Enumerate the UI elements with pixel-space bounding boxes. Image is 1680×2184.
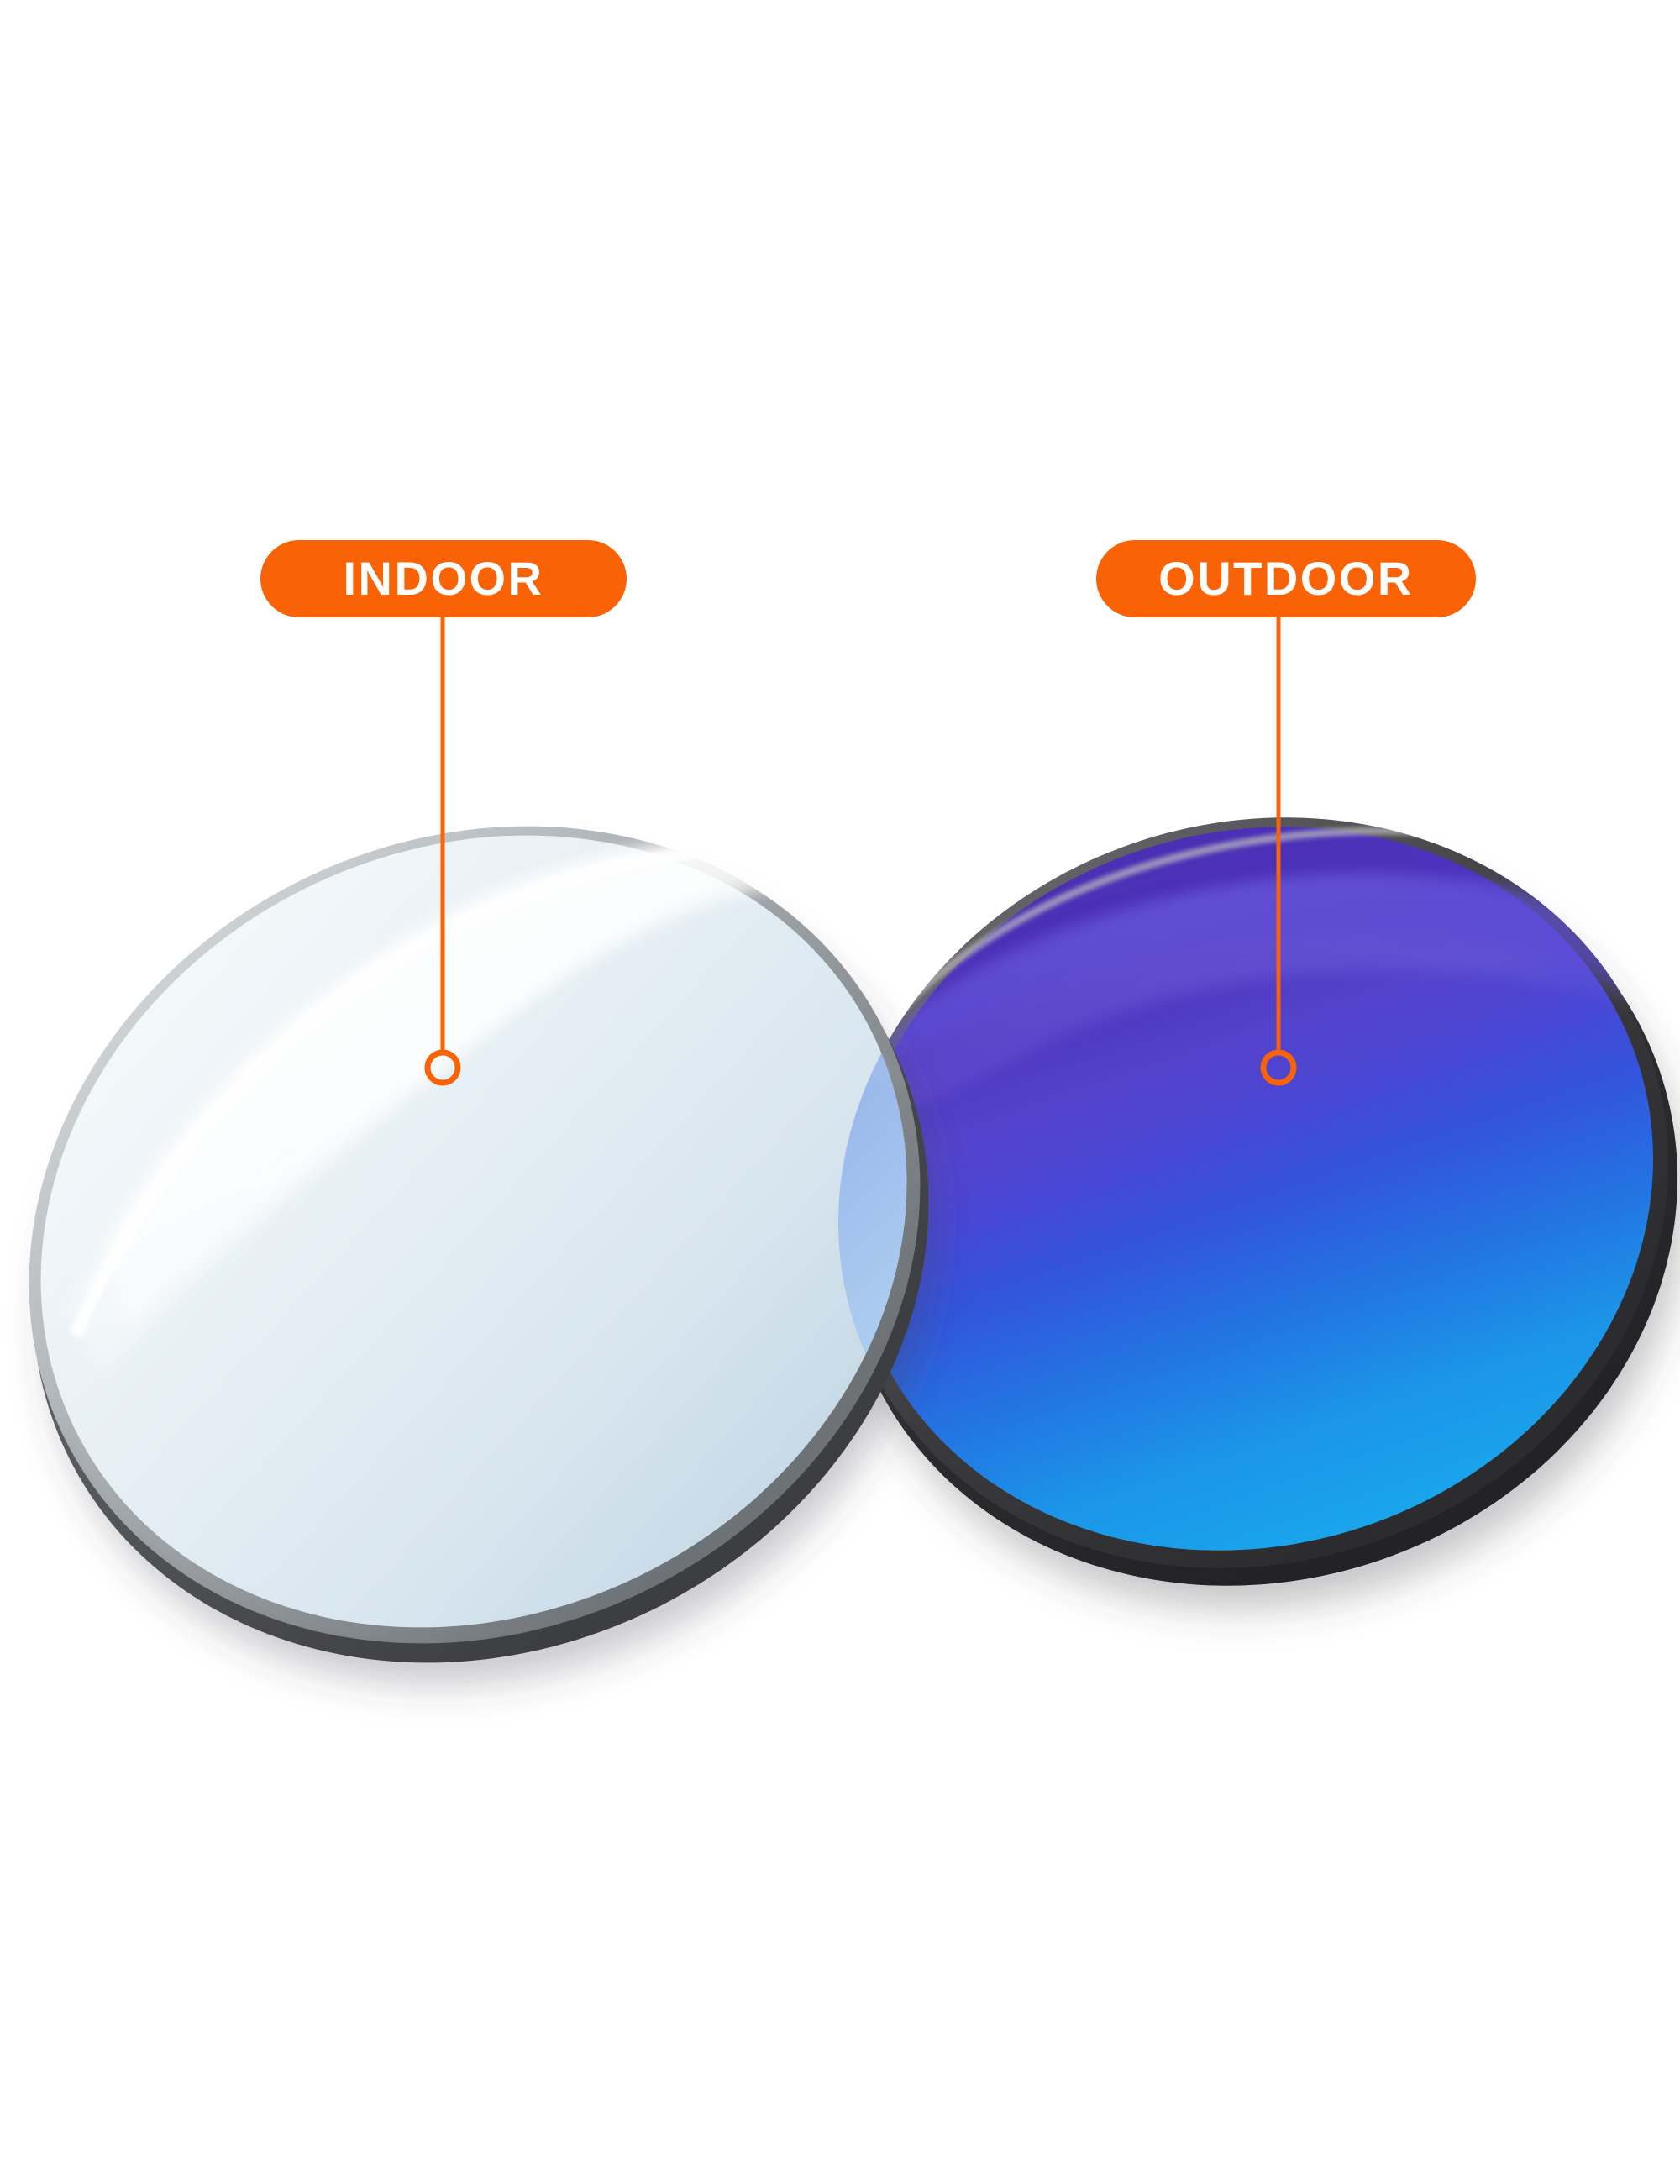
callout-indoor[interactable]: INDOOR — [260, 540, 627, 617]
badge-indoor[interactable]: INDOOR — [260, 540, 627, 617]
badge-outdoor[interactable]: OUTDOOR — [1096, 540, 1476, 617]
illustration-canvas: INDOOR OUTDOOR — [0, 0, 1680, 2184]
lens-comparison-illustration — [0, 0, 1680, 2184]
callout-outdoor[interactable]: OUTDOOR — [1096, 540, 1476, 617]
